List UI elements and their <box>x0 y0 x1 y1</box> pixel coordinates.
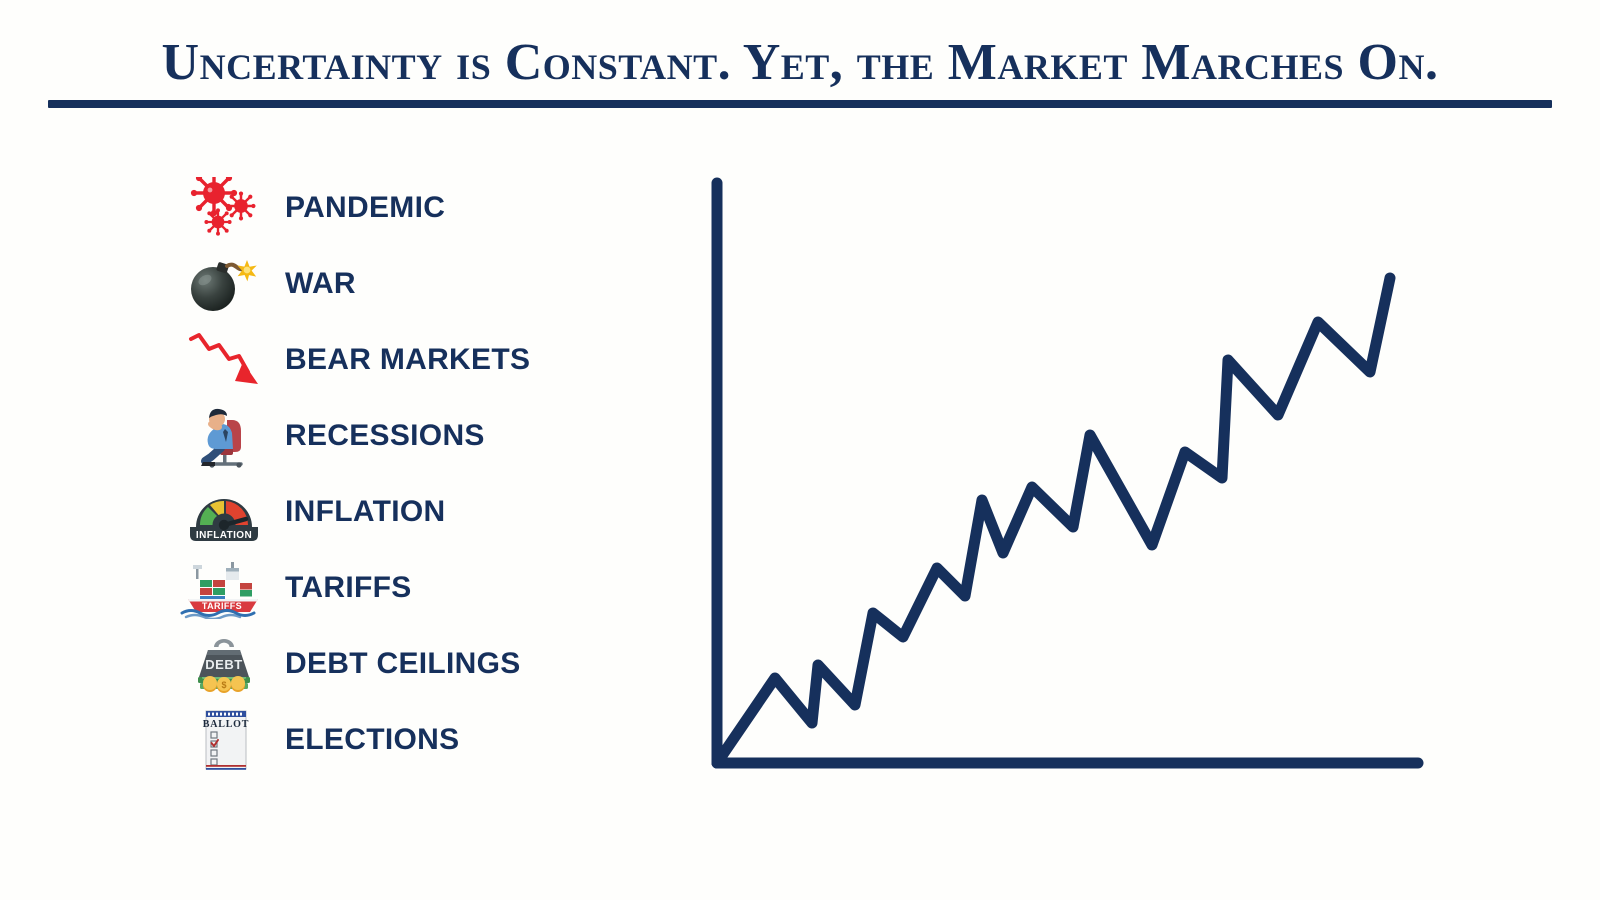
page-title: Uncertainty is Constant. Yet, the Market… <box>0 34 1600 92</box>
gauge-caption: INFLATION <box>196 530 252 541</box>
list-item: BEAR MARKETS <box>180 324 650 396</box>
ballot-caption: BALLOT <box>203 719 249 730</box>
chart-down-icon <box>180 324 268 396</box>
gauge-icon: INFLATION <box>180 476 268 548</box>
weight-icon: DEBT $ <box>180 628 268 700</box>
list-item-label: ELECTIONS <box>268 724 650 756</box>
chart-canvas <box>660 150 1480 810</box>
weight-caption: DEBT <box>205 657 242 672</box>
list-item-label: TARIFFS <box>268 572 650 604</box>
stressed-person-icon <box>180 400 268 472</box>
list-item: TARIFFS TARIFFS <box>180 552 650 624</box>
list-item: WAR <box>180 248 650 320</box>
cargo-ship-icon: TARIFFS <box>180 552 268 624</box>
market-chart <box>660 150 1480 810</box>
virus-icon <box>180 172 268 244</box>
list-item: DEBT $ DEBT CEILINGS <box>180 628 650 700</box>
market-line <box>717 278 1390 763</box>
list-item-label: INFLATION <box>268 496 650 528</box>
list-item: INFLATION INFLATION <box>180 476 650 548</box>
list-item: RECESSIONS <box>180 400 650 472</box>
list-item: BALLOT ELECTIONS <box>180 704 650 776</box>
risk-list: PANDEMIC <box>180 172 650 792</box>
ship-caption: TARIFFS <box>202 601 242 611</box>
list-item-label: WAR <box>268 268 650 300</box>
title-divider <box>48 100 1552 108</box>
list-item-label: PANDEMIC <box>268 192 650 224</box>
list-item-label: DEBT CEILINGS <box>268 648 650 680</box>
title-block: Uncertainty is Constant. Yet, the Market… <box>0 0 1600 120</box>
svg-text:$: $ <box>221 680 226 690</box>
bomb-icon <box>180 248 268 320</box>
list-item: PANDEMIC <box>180 172 650 244</box>
list-item-label: BEAR MARKETS <box>268 344 650 376</box>
ballot-icon: BALLOT <box>180 704 268 776</box>
list-item-label: RECESSIONS <box>268 420 650 452</box>
